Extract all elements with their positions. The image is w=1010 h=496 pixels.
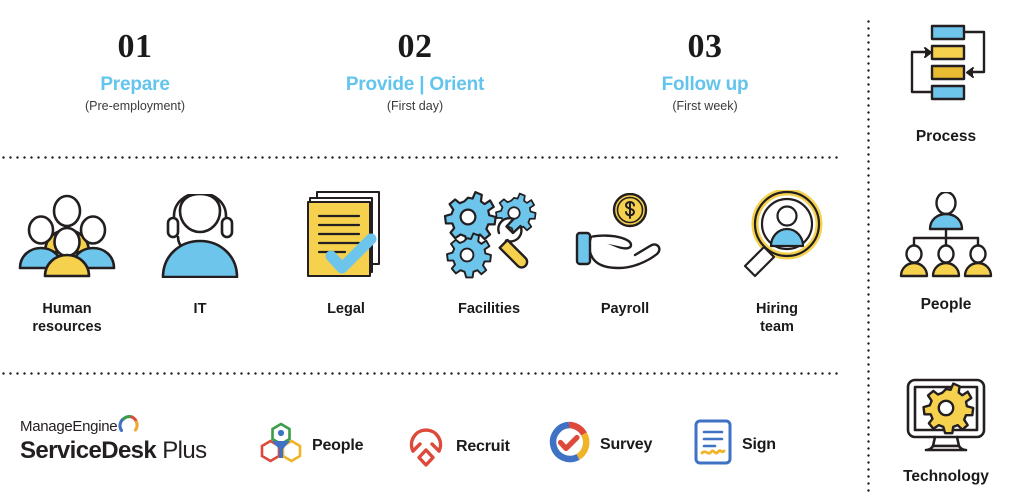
pillar-label: Process — [876, 128, 1010, 146]
divider-horizontal-top — [0, 156, 840, 159]
team-label: Human resources — [0, 300, 142, 336]
manageengine-swoosh-icon — [118, 414, 140, 434]
divider-vertical-right — [867, 18, 870, 496]
team-label: Legal — [271, 300, 421, 318]
monitor-gear-icon — [876, 378, 1010, 456]
product-people[interactable]: People — [259, 422, 363, 469]
recruit-pin-icon — [405, 420, 447, 473]
product-label: Recruit — [456, 438, 510, 456]
step-01: 01 Prepare (Pre-employment) — [15, 28, 255, 114]
magnifier-person-icon — [702, 186, 852, 286]
team-label: Facilities — [414, 300, 564, 318]
team-label: IT — [125, 300, 275, 318]
survey-donut-check-icon — [547, 420, 591, 469]
pillar-people: People — [876, 192, 1010, 314]
team-human-resources: Human resources — [0, 186, 142, 336]
brand-plus: Plus — [162, 437, 206, 464]
pillar-label: Technology — [876, 468, 1010, 486]
documents-checkmark-icon — [271, 186, 421, 286]
brand-manage: Manage — [20, 418, 72, 435]
pillar-process: Process — [876, 20, 1010, 146]
team-it: IT — [125, 186, 275, 318]
team-hiring-team: Hiring team — [702, 186, 852, 336]
team-label: Hiring team — [702, 300, 852, 336]
people-hexagons-icon — [259, 422, 303, 469]
group-of-people-icon — [0, 186, 142, 286]
step-subtitle: (First day) — [295, 98, 535, 114]
product-label: Sign — [742, 436, 776, 454]
team-label: Payroll — [550, 300, 700, 318]
step-02: 02 Provide | Orient (First day) — [295, 28, 535, 114]
headset-agent-icon — [125, 186, 275, 286]
product-label: Survey — [600, 436, 652, 454]
brand-engine: Engine — [72, 418, 117, 435]
infographic-canvas: 01 Prepare (Pre-employment) 02 Provide |… — [0, 0, 1010, 496]
sign-document-icon — [693, 418, 733, 471]
step-title: Prepare — [15, 73, 255, 97]
team-legal: Legal — [271, 186, 421, 318]
team-payroll: Payroll — [550, 186, 700, 318]
gears-wrench-icon — [414, 186, 564, 286]
team-facilities: Facilities — [414, 186, 564, 318]
step-title: Follow up — [585, 73, 825, 97]
pillar-label: People — [876, 296, 1010, 314]
hand-coin-icon — [550, 186, 700, 286]
product-label: People — [312, 437, 363, 455]
product-sign[interactable]: Sign — [693, 418, 776, 471]
step-number: 01 — [15, 28, 255, 66]
step-subtitle: (First week) — [585, 98, 825, 114]
pillar-technology: Technology — [876, 378, 1010, 486]
org-chart-people-icon — [876, 192, 1010, 284]
brand-servicedesk: ServiceDesk — [20, 437, 156, 464]
step-number: 02 — [295, 28, 535, 66]
process-flow-icon — [876, 20, 1010, 116]
step-title: Provide | Orient — [295, 73, 535, 97]
step-03: 03 Follow up (First week) — [585, 28, 825, 114]
product-recruit[interactable]: Recruit — [405, 420, 510, 473]
step-subtitle: (Pre-employment) — [15, 98, 255, 114]
manageengine-servicedesk-logo: Manage Engine ServiceDesk Plus — [20, 418, 207, 465]
product-survey[interactable]: Survey — [547, 420, 652, 469]
divider-horizontal-bottom — [0, 372, 840, 375]
step-number: 03 — [585, 28, 825, 66]
